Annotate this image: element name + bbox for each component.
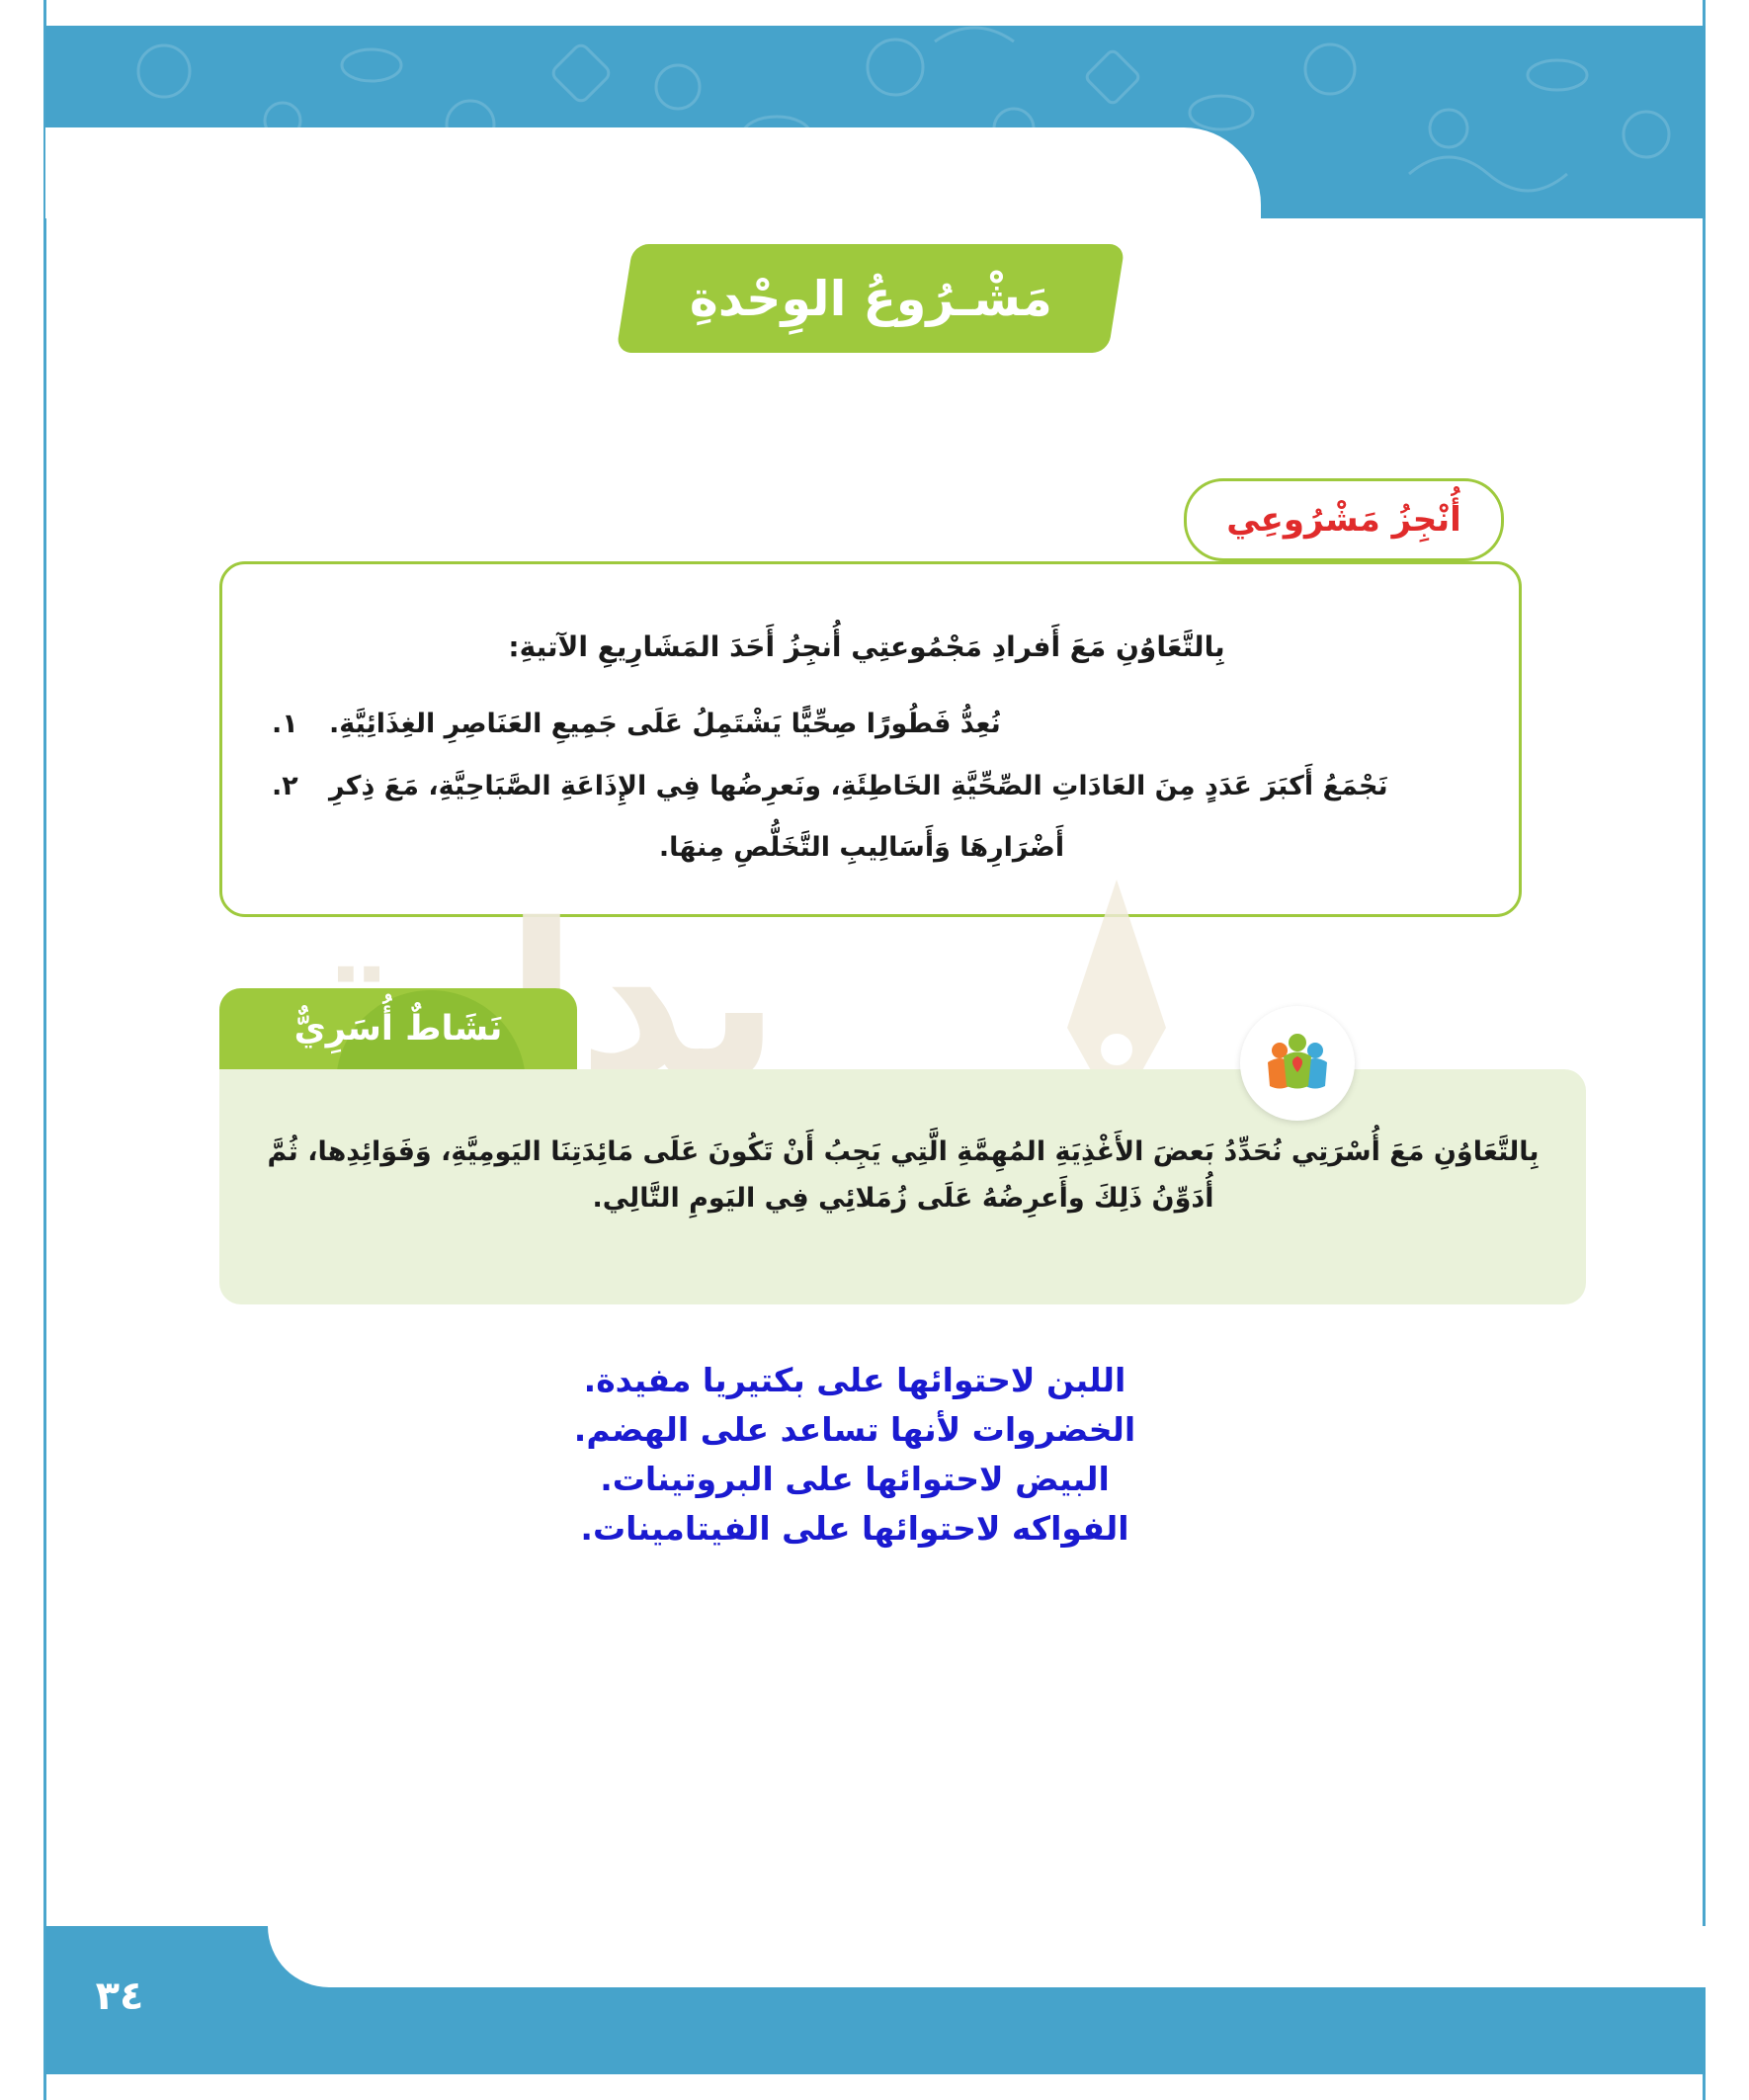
project-item-2-text: نَجْمَعُ أَكبَرَ عَدَدٍ مِنَ العَادَاتِ … bbox=[329, 765, 1388, 809]
project-item-1-number: ١. bbox=[264, 703, 329, 747]
answer-line-1: اللبن لاحتوائها على بكتيريا مفيدة. bbox=[430, 1356, 1280, 1405]
project-content-box: بِالتَّعَاوُنِ مَعَ أَفرادِ مَجْمُوعتِي … bbox=[219, 561, 1522, 917]
textbook-page: مَشْـرُوعُ الوِحْدةِ بداية bedayia.com ل… bbox=[0, 0, 1749, 2100]
tab-complete-my-project-label: أُنْجِزُ مَشْرُوعِي bbox=[1226, 500, 1460, 540]
project-item-2: نَجْمَعُ أَكبَرَ عَدَدٍ مِنَ العَادَاتِ … bbox=[264, 765, 1459, 809]
top-banner bbox=[45, 26, 1706, 218]
family-group-icon-glyph bbox=[1255, 1021, 1340, 1106]
family-group-icon bbox=[1240, 1006, 1355, 1121]
page-frame-right-rule bbox=[1703, 0, 1706, 2100]
bottom-banner: ٣٤ bbox=[45, 1926, 1706, 2074]
project-items-list: نُعِدُّ فَطُورًا صِحِّيًّا يَشْتَمِلُ عَ… bbox=[264, 703, 1459, 888]
handwritten-answers: اللبن لاحتوائها على بكتيريا مفيدة. الخضر… bbox=[430, 1356, 1280, 1554]
project-item-1: نُعِدُّ فَطُورًا صِحِّيًّا يَشْتَمِلُ عَ… bbox=[264, 703, 1459, 747]
family-activity-text: بِالتَّعَاوُنِ مَعَ أُسْرَتِي نُحَدِّدُ … bbox=[256, 1129, 1550, 1222]
family-activity-line-1: بِالتَّعَاوُنِ مَعَ أُسْرَتِي نُحَدِّدُ … bbox=[307, 1136, 1539, 1167]
tab-complete-my-project[interactable]: أُنْجِزُ مَشْرُوعِي bbox=[1184, 478, 1504, 561]
project-intro-text: بِالتَّعَاوُنِ مَعَ أَفرادِ مَجْمُوعتِي … bbox=[274, 626, 1459, 670]
project-item-1-text: نُعِدُّ فَطُورًا صِحِّيًّا يَشْتَمِلُ عَ… bbox=[329, 703, 1001, 747]
tab-family-activity[interactable]: نَشَاطٌ أُسَرِيٌّ bbox=[219, 988, 577, 1069]
page-title: مَشْـرُوعُ الوِحْدةِ bbox=[690, 271, 1052, 327]
top-banner-curve-notch bbox=[45, 127, 1261, 218]
page-number: ٣٤ bbox=[45, 1974, 194, 2019]
answer-line-4: الفواكه لاحتوائها على الفيتامينات. bbox=[430, 1504, 1280, 1554]
unit-project-title-ribbon: مَشْـرُوعُ الوِحْدةِ bbox=[616, 244, 1124, 353]
project-item-2-continuation: أَضْرَارِهَا وَأَسَالِيبِ التَّخَلُّصِ م… bbox=[308, 826, 1415, 871]
page-frame-left-rule bbox=[43, 0, 46, 2100]
project-item-2-continuation-row: أَضْرَارِهَا وَأَسَالِيبِ التَّخَلُّصِ م… bbox=[264, 826, 1459, 871]
family-activity-box: بِالتَّعَاوُنِ مَعَ أُسْرَتِي نُحَدِّدُ … bbox=[219, 1069, 1586, 1304]
project-item-2-number: ٢. bbox=[264, 765, 329, 809]
bottom-banner-curve-notch bbox=[268, 1926, 1706, 1987]
answer-line-3: البيض لاحتوائها على البروتينات. bbox=[430, 1455, 1280, 1504]
tab-family-activity-label: نَشَاطٌ أُسَرِيٌّ bbox=[294, 1009, 503, 1049]
answer-line-2: الخضروات لأنها تساعد على الهضم. bbox=[430, 1405, 1280, 1455]
